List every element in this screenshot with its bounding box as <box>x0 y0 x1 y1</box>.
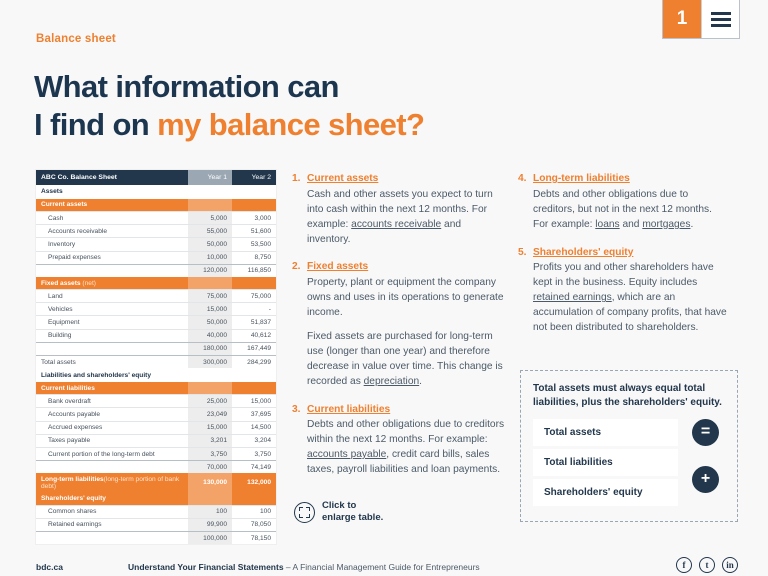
group-year1 <box>188 277 232 290</box>
table-row: 180,000167,449 <box>36 342 276 355</box>
row-year2: 40,612 <box>232 329 276 342</box>
row-year1: 23,049 <box>188 408 232 421</box>
row-year2: 51,600 <box>232 225 276 238</box>
row-year2: 74,149 <box>232 461 276 474</box>
row-label: Taxes payable <box>36 434 188 447</box>
title-line-2: I find on my balance sheet? <box>34 106 424 144</box>
row-label <box>36 461 188 474</box>
list-number: 1. <box>292 172 307 247</box>
row-label: Equipment <box>36 316 188 329</box>
list-item: 5.Shareholders' equityProfits you and ot… <box>518 246 730 336</box>
table-group-row: Current assets <box>36 199 276 212</box>
row-year2: 14,500 <box>232 421 276 434</box>
list-heading[interactable]: Long-term liabilities <box>533 172 630 187</box>
row-label <box>36 532 188 545</box>
table-row: Total assets300,000284,299 <box>36 356 276 369</box>
row-year1: 15,000 <box>188 421 232 434</box>
row-year2: 53,500 <box>232 238 276 251</box>
linkedin-icon[interactable]: in <box>722 557 738 573</box>
table-row: Accrued expenses15,00014,500 <box>36 421 276 434</box>
row-label: Vehicles <box>36 303 188 316</box>
table-row: Accounts receivable55,00051,600 <box>36 225 276 238</box>
table-row: Equipment50,00051,837 <box>36 316 276 329</box>
table-row: Current portion of the long-term debt3,7… <box>36 447 276 460</box>
table-row: 100,00078,150 <box>36 532 276 545</box>
row-label: Accrued expenses <box>36 421 188 434</box>
footer-note-bold: Understand Your Financial Statements <box>128 562 284 572</box>
group-label: Current liabilities <box>36 382 188 395</box>
row-year2: - <box>232 303 276 316</box>
hamburger-icon[interactable] <box>701 0 739 38</box>
row-year1: 50,000 <box>188 238 232 251</box>
page-title: What information can I find on my balanc… <box>34 68 424 144</box>
row-label: Total assets <box>36 356 188 369</box>
group-year2 <box>232 277 276 290</box>
table-row: Accounts payable23,04937,695 <box>36 408 276 421</box>
group-year2 <box>232 199 276 212</box>
row-year1: 25,000 <box>188 395 232 408</box>
list-body: Fixed assetsProperty, plant or equipment… <box>307 260 506 389</box>
row-year2: 75,000 <box>232 290 276 303</box>
group-year1 <box>188 493 232 506</box>
row-year2: 78,150 <box>232 532 276 545</box>
list-number: 2. <box>292 260 307 389</box>
col-year2: Year 2 <box>232 170 276 185</box>
equation-lead-text: Total assets must always equal total lia… <box>533 382 725 410</box>
twitter-icon[interactable]: t <box>699 557 715 573</box>
table-row: 70,00074,149 <box>36 461 276 474</box>
enlarge-table-button[interactable]: Click to enlarge table. <box>294 500 383 524</box>
footer-brand[interactable]: bdc.ca <box>36 562 63 572</box>
table-row: Land75,00075,000 <box>36 290 276 303</box>
enlarge-label: Click to enlarge table. <box>322 500 383 524</box>
group-year1 <box>188 382 232 395</box>
inline-term[interactable]: loans <box>595 219 619 230</box>
row-year2: 3,750 <box>232 447 276 460</box>
group-year2 <box>232 493 276 506</box>
row-label: Land <box>36 290 188 303</box>
table-row: Retained earnings99,90078,050 <box>36 518 276 531</box>
row-year2: 51,837 <box>232 316 276 329</box>
row-label: Accounts receivable <box>36 225 188 238</box>
list-paragraph: Property, plant or equipment the company… <box>307 276 506 321</box>
table-section-row: Assets <box>36 185 276 199</box>
row-year1: 3,201 <box>188 434 232 447</box>
table-row: Cash5,0003,000 <box>36 211 276 224</box>
list-item: 3.Current liabilitiesDebts and other obl… <box>292 403 506 478</box>
list-item: 1.Current assetsCash and other assets yo… <box>292 172 506 247</box>
balance-sheet-table[interactable]: ABC Co. Balance SheetYear 1Year 2AssetsC… <box>36 170 276 544</box>
group-year1: 130,000 <box>188 473 232 492</box>
equation-total-liabilities: Total liabilities <box>533 449 678 476</box>
row-label: Common shares <box>36 505 188 518</box>
row-year2: 37,695 <box>232 408 276 421</box>
slide-page: 1 Balance sheet What information can I f… <box>0 0 768 576</box>
list-heading[interactable]: Fixed assets <box>307 260 368 275</box>
inline-term[interactable]: retained earnings <box>533 292 612 303</box>
title-plain: I find on <box>34 107 157 142</box>
list-body: Current liabilitiesDebts and other oblig… <box>307 403 506 478</box>
inline-term[interactable]: depreciation <box>364 376 420 387</box>
row-label: Bank overdraft <box>36 395 188 408</box>
row-year1: 300,000 <box>188 356 232 369</box>
row-year2: 8,750 <box>232 251 276 264</box>
group-label: Long-term liabilities(long-term portion … <box>36 473 188 492</box>
definition-list-column-1: 1.Current assetsCash and other assets yo… <box>292 172 506 491</box>
row-year2: 15,000 <box>232 395 276 408</box>
row-year1: 70,000 <box>188 461 232 474</box>
header-corner-widget[interactable]: 1 <box>662 0 740 39</box>
expand-icon <box>294 502 315 523</box>
group-label: Fixed assets (net) <box>36 277 188 290</box>
row-label: Cash <box>36 211 188 224</box>
row-year1: 50,000 <box>188 316 232 329</box>
row-label: Inventory <box>36 238 188 251</box>
table-group-row: Shareholders' equity <box>36 493 276 506</box>
equation-total-assets: Total assets <box>533 419 678 446</box>
equation-rows: Total assets Total liabilities Sharehold… <box>533 419 725 506</box>
col-year1: Year 1 <box>188 170 232 185</box>
list-number: 4. <box>518 172 533 233</box>
table-group-row: Long-term liabilities(long-term portion … <box>36 473 276 492</box>
row-year1: 100 <box>188 505 232 518</box>
table-header-row: ABC Co. Balance SheetYear 1Year 2 <box>36 170 276 185</box>
row-label: Prepaid expenses <box>36 251 188 264</box>
list-item: 4.Long-term liabilitiesDebts and other o… <box>518 172 730 233</box>
eyebrow-label: Balance sheet <box>36 33 116 45</box>
row-year1: 100,000 <box>188 532 232 545</box>
enlarge-line-2: enlarge table. <box>322 512 383 524</box>
row-year2: 78,050 <box>232 518 276 531</box>
list-body: Long-term liabilitiesDebts and other obl… <box>533 172 730 233</box>
group-year2 <box>232 382 276 395</box>
equals-icon: = <box>692 419 719 446</box>
row-year1: 5,000 <box>188 211 232 224</box>
group-year2: 132,000 <box>232 473 276 492</box>
table-title: ABC Co. Balance Sheet <box>36 170 188 185</box>
enlarge-line-1: Click to <box>322 500 383 512</box>
table-row: Prepaid expenses10,0008,750 <box>36 251 276 264</box>
row-year1: 40,000 <box>188 329 232 342</box>
row-year2: 167,449 <box>232 342 276 355</box>
equation-shareholders-equity: Shareholders' equity <box>533 479 678 506</box>
row-year2: 284,299 <box>232 356 276 369</box>
table-row: Vehicles15,000- <box>36 303 276 316</box>
table-row: Taxes payable3,2013,204 <box>36 434 276 447</box>
list-heading[interactable]: Shareholders' equity <box>533 246 633 261</box>
row-label: Building <box>36 329 188 342</box>
definition-list-column-2: 4.Long-term liabilitiesDebts and other o… <box>518 172 730 349</box>
page-number-badge: 1 <box>663 0 701 38</box>
row-year1: 55,000 <box>188 225 232 238</box>
table-group-row: Fixed assets (net) <box>36 277 276 290</box>
row-year1: 120,000 <box>188 264 232 277</box>
list-body: Shareholders' equityProfits you and othe… <box>533 246 730 336</box>
row-year2: 100 <box>232 505 276 518</box>
table-row: Building40,00040,612 <box>36 329 276 342</box>
accounting-equation-box: Total assets must always equal total lia… <box>520 370 738 522</box>
table-row: Common shares100100 <box>36 505 276 518</box>
list-paragraph: Debts and other obligations due to credi… <box>533 188 730 233</box>
plus-icon: + <box>692 466 719 493</box>
facebook-icon[interactable]: f <box>676 557 692 573</box>
row-year1: 10,000 <box>188 251 232 264</box>
row-year1: 75,000 <box>188 290 232 303</box>
row-year1: 180,000 <box>188 342 232 355</box>
section-label: Liabilities and shareholders' equity <box>36 368 276 382</box>
row-year1: 99,900 <box>188 518 232 531</box>
table-row: Bank overdraft25,00015,000 <box>36 395 276 408</box>
list-number: 5. <box>518 246 533 336</box>
table-section-row: Liabilities and shareholders' equity <box>36 368 276 382</box>
list-paragraph: Cash and other assets you expect to turn… <box>307 188 506 248</box>
row-year2: 116,850 <box>232 264 276 277</box>
row-year2: 3,000 <box>232 211 276 224</box>
list-heading[interactable]: Current liabilities <box>307 403 390 418</box>
table-group-row: Current liabilities <box>36 382 276 395</box>
group-label: Current assets <box>36 199 188 212</box>
title-highlight: my balance sheet? <box>157 107 424 142</box>
table-row: Inventory50,00053,500 <box>36 238 276 251</box>
row-label: Retained earnings <box>36 518 188 531</box>
section-label: Assets <box>36 185 276 199</box>
row-label <box>36 342 188 355</box>
list-item: 2.Fixed assetsProperty, plant or equipme… <box>292 260 506 389</box>
row-label: Current portion of the long-term debt <box>36 447 188 460</box>
footer-note-rest: – A Financial Management Guide for Entre… <box>284 562 480 572</box>
list-number: 3. <box>292 403 307 478</box>
row-year1: 15,000 <box>188 303 232 316</box>
table-row: 120,000116,850 <box>36 264 276 277</box>
list-paragraph: Debts and other obligations due to credi… <box>307 418 506 478</box>
social-links[interactable]: ftin <box>676 557 738 573</box>
list-heading[interactable]: Current assets <box>307 172 378 187</box>
list-body: Current assetsCash and other assets you … <box>307 172 506 247</box>
inline-term[interactable]: mortgages <box>642 219 690 230</box>
inline-term[interactable]: accounts payable <box>307 449 386 460</box>
row-year2: 3,204 <box>232 434 276 447</box>
inline-term[interactable]: accounts receivable <box>351 219 441 230</box>
row-label <box>36 264 188 277</box>
footer-note: Understand Your Financial Statements – A… <box>128 562 480 572</box>
list-paragraph: Fixed assets are purchased for long-term… <box>307 330 506 390</box>
row-label: Accounts payable <box>36 408 188 421</box>
row-year1: 3,750 <box>188 447 232 460</box>
list-paragraph: Profits you and other shareholders have … <box>533 261 730 335</box>
group-year1 <box>188 199 232 212</box>
title-line-1: What information can <box>34 68 424 106</box>
group-label: Shareholders' equity <box>36 493 188 506</box>
